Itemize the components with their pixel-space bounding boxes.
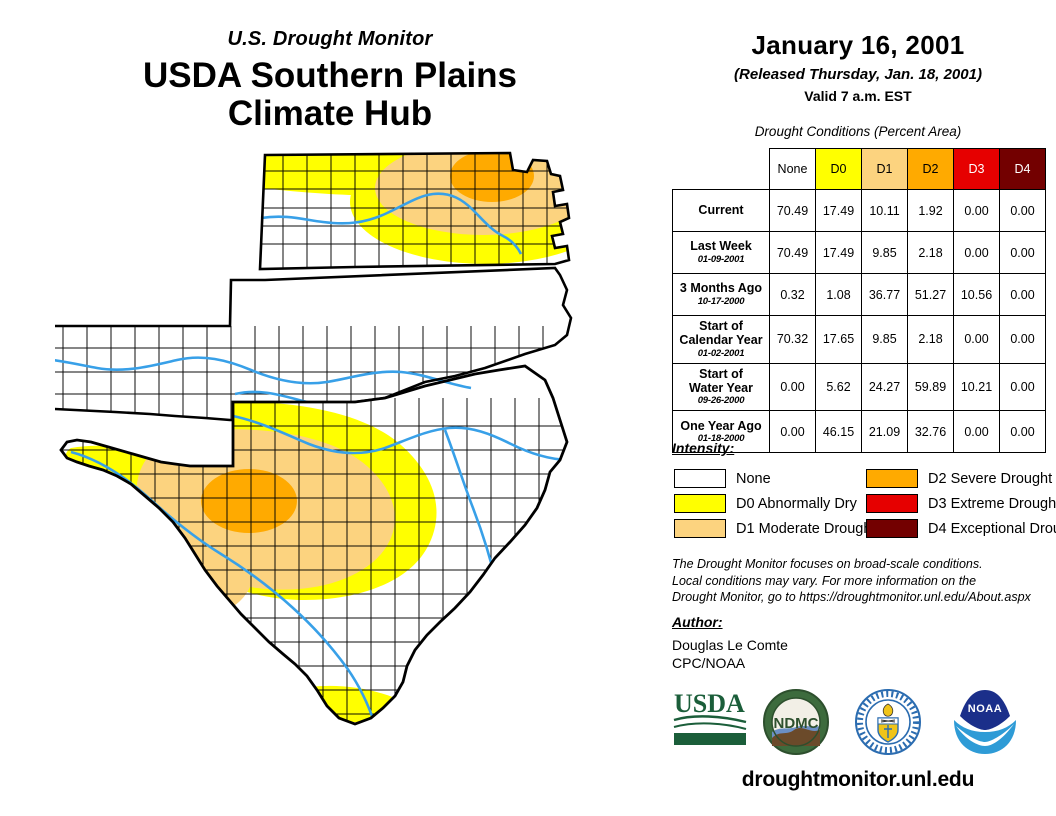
site-url[interactable]: droughtmonitor.unl.edu bbox=[660, 768, 1056, 792]
legend-label: None bbox=[736, 471, 771, 487]
table-header-d3: D3 bbox=[954, 149, 1000, 190]
title-block: U.S. Drought Monitor USDA Southern Plain… bbox=[0, 28, 660, 133]
table-cell-d3: 0.00 bbox=[954, 190, 1000, 232]
table-row: 3 Months Ago10-17-20000.321.0836.7751.27… bbox=[673, 274, 1046, 316]
table-cell-d0: 17.49 bbox=[816, 232, 862, 274]
table-header-corner bbox=[673, 149, 770, 190]
table-cell-none: 70.49 bbox=[770, 232, 816, 274]
noaa-logo: NOAA bbox=[946, 686, 1024, 758]
ndmc-logo-text: NDMC bbox=[774, 715, 819, 732]
legend-item: D4 Exceptional Drought bbox=[866, 516, 1056, 541]
table-cell-d3: 0.00 bbox=[954, 411, 1000, 453]
table-cell-d0: 5.62 bbox=[816, 363, 862, 411]
legend-item: None bbox=[674, 466, 875, 491]
legend-swatch bbox=[866, 494, 918, 513]
table-cell-d4: 0.00 bbox=[1000, 190, 1046, 232]
legend-label: D3 Extreme Drought bbox=[928, 496, 1056, 512]
ndmc-logo: NDMC bbox=[760, 686, 832, 758]
date-block: January 16, 2001 (Released Thursday, Jan… bbox=[660, 30, 1056, 104]
disclaimer-line-1: The Drought Monitor focuses on broad-sca… bbox=[672, 556, 1052, 573]
table-row-date: 10-17-2000 bbox=[675, 297, 767, 308]
legend-swatch bbox=[674, 469, 726, 488]
drought-map[interactable] bbox=[55, 130, 675, 810]
page-title-line1: USDA Southern Plains bbox=[0, 57, 660, 95]
table-row-date: 01-02-2001 bbox=[675, 349, 767, 360]
map-state-texas bbox=[55, 366, 675, 810]
table-header-row: NoneD0D1D2D3D4 bbox=[673, 149, 1046, 190]
legend-label: D4 Exceptional Drought bbox=[928, 521, 1056, 537]
table-cell-d2: 51.27 bbox=[908, 274, 954, 316]
legend-swatch bbox=[674, 519, 726, 538]
table-row-date: 01-09-2001 bbox=[675, 255, 767, 266]
table-cell-d4: 0.00 bbox=[1000, 363, 1046, 411]
table-cell-d0: 1.08 bbox=[816, 274, 862, 316]
table-cell-d1: 10.11 bbox=[862, 190, 908, 232]
table-cell-d1: 9.85 bbox=[862, 232, 908, 274]
table-cell-d4: 0.00 bbox=[1000, 411, 1046, 453]
table-cell-d0: 17.65 bbox=[816, 316, 862, 364]
table-header-d2: D2 bbox=[908, 149, 954, 190]
table-header-none: None bbox=[770, 149, 816, 190]
table-cell-d0: 17.49 bbox=[816, 190, 862, 232]
legend-column-right: D2 Severe DroughtD3 Extreme DroughtD4 Ex… bbox=[866, 466, 1056, 541]
table-cell-none: 0.32 bbox=[770, 274, 816, 316]
table-cell-d4: 0.00 bbox=[1000, 274, 1046, 316]
table-header-d0: D0 bbox=[816, 149, 862, 190]
legend-column-left: NoneD0 Abnormally DryD1 Moderate Drought bbox=[674, 466, 875, 541]
table-row-label: Current bbox=[673, 190, 770, 232]
valid-time: Valid 7 a.m. EST bbox=[660, 88, 1056, 104]
disclaimer-text: The Drought Monitor focuses on broad-sca… bbox=[672, 556, 1052, 606]
table-row: Last Week01-09-200170.4917.499.852.180.0… bbox=[673, 232, 1046, 274]
legend-swatch bbox=[866, 519, 918, 538]
usda-logo: USDA bbox=[672, 686, 750, 750]
table-cell-d1: 36.77 bbox=[862, 274, 908, 316]
table-cell-d3: 0.00 bbox=[954, 316, 1000, 364]
table-cell-d3: 10.56 bbox=[954, 274, 1000, 316]
issue-date: January 16, 2001 bbox=[660, 30, 1056, 61]
table-cell-d2: 2.18 bbox=[908, 232, 954, 274]
drought-monitor-subtitle: U.S. Drought Monitor bbox=[0, 28, 660, 51]
disclaimer-line-3: Drought Monitor, go to https://droughtmo… bbox=[672, 589, 1052, 606]
table-cell-d1: 24.27 bbox=[862, 363, 908, 411]
table-cell-none: 0.00 bbox=[770, 363, 816, 411]
author-organization: CPC/NOAA bbox=[672, 655, 745, 671]
table-cell-d1: 21.09 bbox=[862, 411, 908, 453]
table-cell-d2: 59.89 bbox=[908, 363, 954, 411]
legend-label: D2 Severe Drought bbox=[928, 471, 1052, 487]
legend-label: D0 Abnormally Dry bbox=[736, 496, 857, 512]
table-caption: Drought Conditions (Percent Area) bbox=[660, 124, 1056, 139]
table-row-label: 3 Months Ago10-17-2000 bbox=[673, 274, 770, 316]
table-cell-d4: 0.00 bbox=[1000, 316, 1046, 364]
legend-label: D1 Moderate Drought bbox=[736, 521, 875, 537]
legend-heading: Intensity: bbox=[672, 440, 734, 456]
legend-swatch bbox=[866, 469, 918, 488]
table-cell-d4: 0.00 bbox=[1000, 232, 1046, 274]
table-row: Start ofWater Year09-26-20000.005.6224.2… bbox=[673, 363, 1046, 411]
table-cell-d3: 10.21 bbox=[954, 363, 1000, 411]
table-header-d1: D1 bbox=[862, 149, 908, 190]
page-title-line2: Climate Hub bbox=[0, 95, 660, 133]
legend-item: D3 Extreme Drought bbox=[866, 491, 1056, 516]
author-name: Douglas Le Comte bbox=[672, 637, 788, 653]
table-row-label: Start ofCalendar Year01-02-2001 bbox=[673, 316, 770, 364]
legend-item: D1 Moderate Drought bbox=[674, 516, 875, 541]
table-cell-d1: 9.85 bbox=[862, 316, 908, 364]
table-body: Current70.4917.4910.111.920.000.00Last W… bbox=[673, 190, 1046, 453]
table-cell-none: 0.00 bbox=[770, 411, 816, 453]
table-header-d4: D4 bbox=[1000, 149, 1046, 190]
logo-row: USDA NDMC NOAA bbox=[668, 686, 1056, 764]
release-date: (Released Thursday, Jan. 18, 2001) bbox=[660, 66, 1056, 83]
table-cell-d0: 46.15 bbox=[816, 411, 862, 453]
table-row-label: Last Week01-09-2001 bbox=[673, 232, 770, 274]
table-cell-none: 70.32 bbox=[770, 316, 816, 364]
legend-swatch bbox=[674, 494, 726, 513]
drought-conditions-table: NoneD0D1D2D3D4 Current70.4917.4910.111.9… bbox=[672, 148, 1046, 453]
table-row: Current70.4917.4910.111.920.000.00 bbox=[673, 190, 1046, 232]
usda-logo-text: USDA bbox=[674, 689, 745, 718]
legend-item: D0 Abnormally Dry bbox=[674, 491, 875, 516]
table-cell-d2: 32.76 bbox=[908, 411, 954, 453]
author-heading: Author: bbox=[672, 614, 723, 630]
legend-item: D2 Severe Drought bbox=[866, 466, 1056, 491]
table-cell-none: 70.49 bbox=[770, 190, 816, 232]
disclaimer-line-2: Local conditions may vary. For more info… bbox=[672, 573, 1052, 590]
table-row: Start ofCalendar Year01-02-200170.3217.6… bbox=[673, 316, 1046, 364]
table-cell-d2: 2.18 bbox=[908, 316, 954, 364]
table-row-label: Start ofWater Year09-26-2000 bbox=[673, 363, 770, 411]
noaa-logo-text: NOAA bbox=[968, 703, 1002, 715]
table-cell-d2: 1.92 bbox=[908, 190, 954, 232]
table-row-date: 09-26-2000 bbox=[675, 396, 767, 407]
table-cell-d3: 0.00 bbox=[954, 232, 1000, 274]
unl-seal-logo bbox=[852, 686, 924, 758]
page-title: USDA Southern Plains Climate Hub bbox=[0, 57, 660, 133]
